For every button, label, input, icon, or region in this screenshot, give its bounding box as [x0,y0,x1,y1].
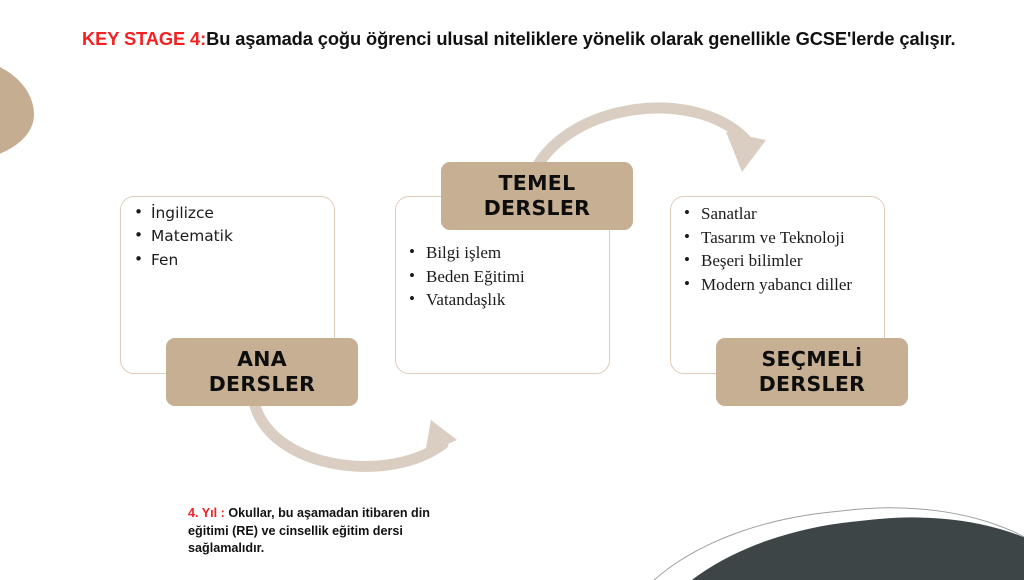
chip-line-1: ANA [209,347,316,372]
list-item: Matematik [134,225,233,248]
chip-line-2: DERSLER [484,196,591,221]
optional-subjects-list: Sanatlar Tasarım ve Teknoloji Beşeri bil… [684,202,852,296]
chip-line-1: TEMEL [484,171,591,196]
foundation-subjects-label-chip: TEMEL DERSLER [441,162,633,230]
list-item: Fen [134,249,233,272]
core-subjects-label-chip: ANA DERSLER [166,338,358,406]
footnote: 4. Yıl : Okullar, bu aşamadan itibaren d… [188,505,458,558]
list-item: Modern yabancı diller [684,273,852,297]
chip-line-1: SEÇMELİ [759,347,866,372]
footnote-year: 4. Yıl : [188,506,225,520]
chip-line-2: DERSLER [209,372,316,397]
slide-heading: KEY STAGE 4:Bu aşamada çoğu öğrenci ulus… [82,28,1012,50]
list-item: Vatandaşlık [409,288,525,312]
list-item: Beden Eğitimi [409,265,525,289]
list-item: İngilizce [134,202,233,225]
heading-text: Bu aşamada çoğu öğrenci ulusal nitelikle… [206,28,955,49]
footnote-text: Okullar, bu aşamadan itibaren din eğitim… [188,506,430,555]
list-item: Tasarım ve Teknoloji [684,226,852,250]
decorative-leaf-shape [0,57,34,162]
list-item: Sanatlar [684,202,852,226]
foundation-subjects-list: Bilgi işlem Beden Eğitimi Vatandaşlık [409,241,525,312]
decorative-outline-blob [605,486,1024,580]
core-subjects-list: İngilizce Matematik Fen [134,202,233,272]
chip-line-2: DERSLER [759,372,866,397]
slide-canvas: KEY STAGE 4:Bu aşamada çoğu öğrenci ulus… [0,0,1024,580]
optional-subjects-label-chip: SEÇMELİ DERSLER [716,338,908,406]
list-item: Bilgi işlem [409,241,525,265]
decorative-dark-blob [630,496,1024,580]
heading-kicker: KEY STAGE 4: [82,28,206,49]
list-item: Beşeri bilimler [684,249,852,273]
